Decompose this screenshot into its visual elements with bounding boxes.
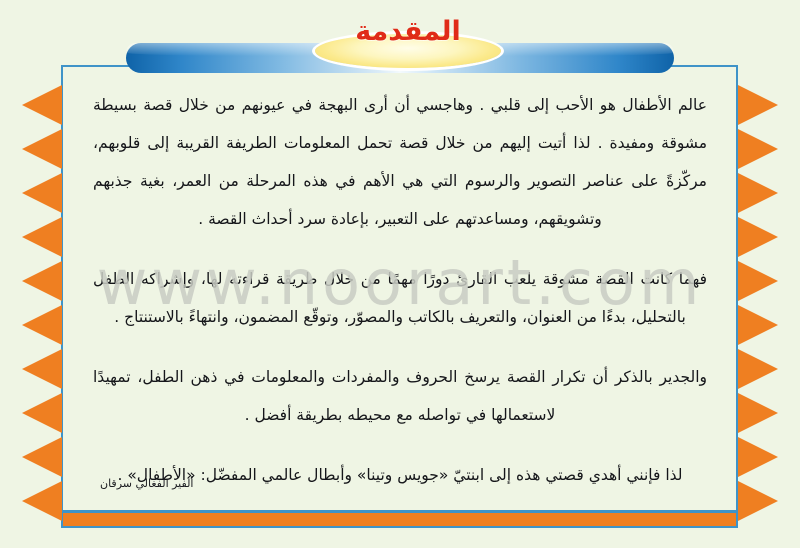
introduction-body: عالم الأطفال هو الأحب إلى قلبي . وهاجسي … (75, 78, 725, 503)
bottom-accent-bar (61, 511, 738, 528)
paragraph-2: فهما كانت القصة مشوقة يلعب القارئ دورًا … (93, 260, 707, 336)
paragraph-1: عالم الأطفال هو الأحب إلى قلبي . وهاجسي … (93, 86, 707, 238)
paragraph-3: والجدير بالذكر أن تكرار القصة يرسخ الحرو… (93, 358, 707, 434)
page-root: المقدمة www.noorart.com (0, 0, 800, 548)
author-signature: ألفير الفغالي سرقان (100, 477, 193, 490)
right-sawtooth-decoration (738, 85, 778, 525)
left-sawtooth-decoration (22, 85, 62, 525)
page-title: المقدمة (315, 16, 501, 47)
